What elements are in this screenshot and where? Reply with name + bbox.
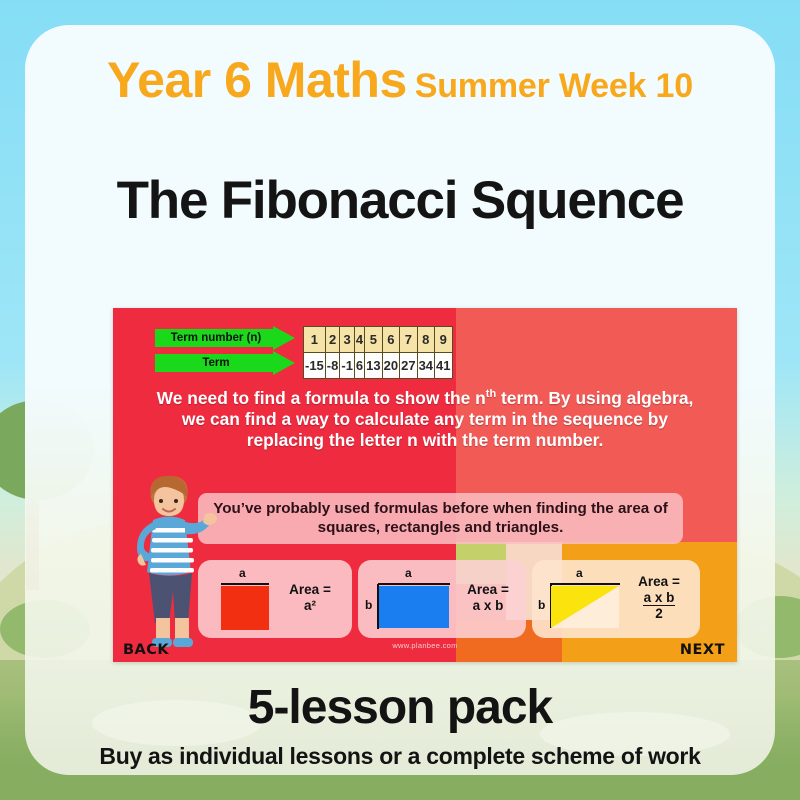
row-label-term: Term	[155, 351, 307, 375]
shape-box-triangle: a b Area = a x b 2	[532, 560, 700, 638]
table-cell: 5	[365, 327, 382, 353]
shape-box-square: a Area = a²	[198, 560, 352, 638]
triangle-dim-line-top	[550, 583, 620, 585]
table-cell: 20	[382, 353, 399, 379]
page-title: The Fibonacci Squence	[25, 170, 775, 231]
table-cell: 8	[417, 327, 434, 353]
triangle-shape-icon	[551, 586, 619, 628]
triangle-dim-a-label: a	[576, 566, 583, 580]
shape-box-rectangle: a b Area = a x b	[358, 560, 526, 638]
table-cell: 34	[417, 353, 434, 379]
watermark: www.planbee.com	[392, 641, 457, 650]
header-title: Year 6 Maths	[107, 52, 407, 108]
table-cell: 1	[304, 327, 326, 353]
back-button[interactable]: BACK	[123, 642, 169, 658]
footer-title: 5-lesson pack	[25, 680, 775, 735]
square-dim-line	[221, 583, 269, 585]
rectangle-area-label: Area =	[467, 582, 509, 597]
paragraph-text-1: We need to find a formula to show the n	[157, 388, 486, 408]
next-button[interactable]: NEXT	[680, 642, 725, 658]
square-shape-icon	[221, 586, 269, 630]
triangle-dim-b-label: b	[538, 598, 545, 612]
triangle-area-formula: Area = a x b 2	[624, 574, 694, 623]
table-cell: -15	[304, 353, 326, 379]
slide-paragraph: We need to find a formula to show the nt…	[153, 388, 697, 452]
square-area-formula: Area = a²	[276, 582, 344, 614]
square-area-label: Area =	[289, 582, 331, 597]
slide-pink-note: You’ve probably used formulas before whe…	[198, 493, 683, 544]
lesson-slide-preview[interactable]: Term number (n) Term 1 2 3 4 5 6 7 8 9	[113, 308, 737, 662]
content-card: Year 6 MathsSummer Week 10 The Fibonacci…	[25, 25, 775, 775]
row-label-term-number: Term number (n)	[155, 326, 307, 350]
header-subtitle: Summer Week 10	[415, 67, 693, 105]
table-cell: 13	[365, 353, 382, 379]
table-cell: 6	[354, 353, 364, 379]
table-cell: 2	[325, 327, 340, 353]
table-row: 1 2 3 4 5 6 7 8 9	[304, 327, 453, 353]
table-cell: 3	[340, 327, 355, 353]
table-cell: 41	[435, 353, 452, 379]
triangle-formula-numerator: a x b	[643, 590, 676, 606]
triangle-area-label: Area =	[638, 574, 680, 589]
table-cell: 4	[354, 327, 364, 353]
header: Year 6 MathsSummer Week 10	[25, 51, 775, 109]
table-cell: 6	[382, 327, 399, 353]
table-row: -15 -8 -1 6 13 20 27 34 41	[304, 353, 453, 379]
rectangle-dim-b-label: b	[365, 598, 372, 612]
table-cell: -8	[325, 353, 340, 379]
rectangle-dim-a-label: a	[405, 566, 412, 580]
square-formula: a²	[304, 598, 316, 613]
rectangle-shape-icon	[379, 586, 449, 628]
footer: 5-lesson pack Buy as individual lessons …	[25, 680, 775, 770]
square-dim-a-label: a	[239, 566, 246, 580]
table: 1 2 3 4 5 6 7 8 9 -15 -8 -1 6 13 20	[303, 326, 453, 379]
table-cell: 7	[400, 327, 417, 353]
rectangle-dim-line-top	[378, 583, 450, 585]
table-cell: 27	[400, 353, 417, 379]
table-cell: -1	[340, 353, 355, 379]
rectangle-formula: a x b	[473, 598, 504, 613]
boy-character-illustration	[119, 460, 219, 660]
paragraph-superscript: th	[486, 388, 496, 400]
table-cell: 9	[435, 327, 452, 353]
rectangle-area-formula: Area = a x b	[454, 582, 522, 614]
triangle-formula-denominator: 2	[655, 606, 663, 621]
footer-subtitle: Buy as individual lessons or a complete …	[25, 743, 775, 770]
